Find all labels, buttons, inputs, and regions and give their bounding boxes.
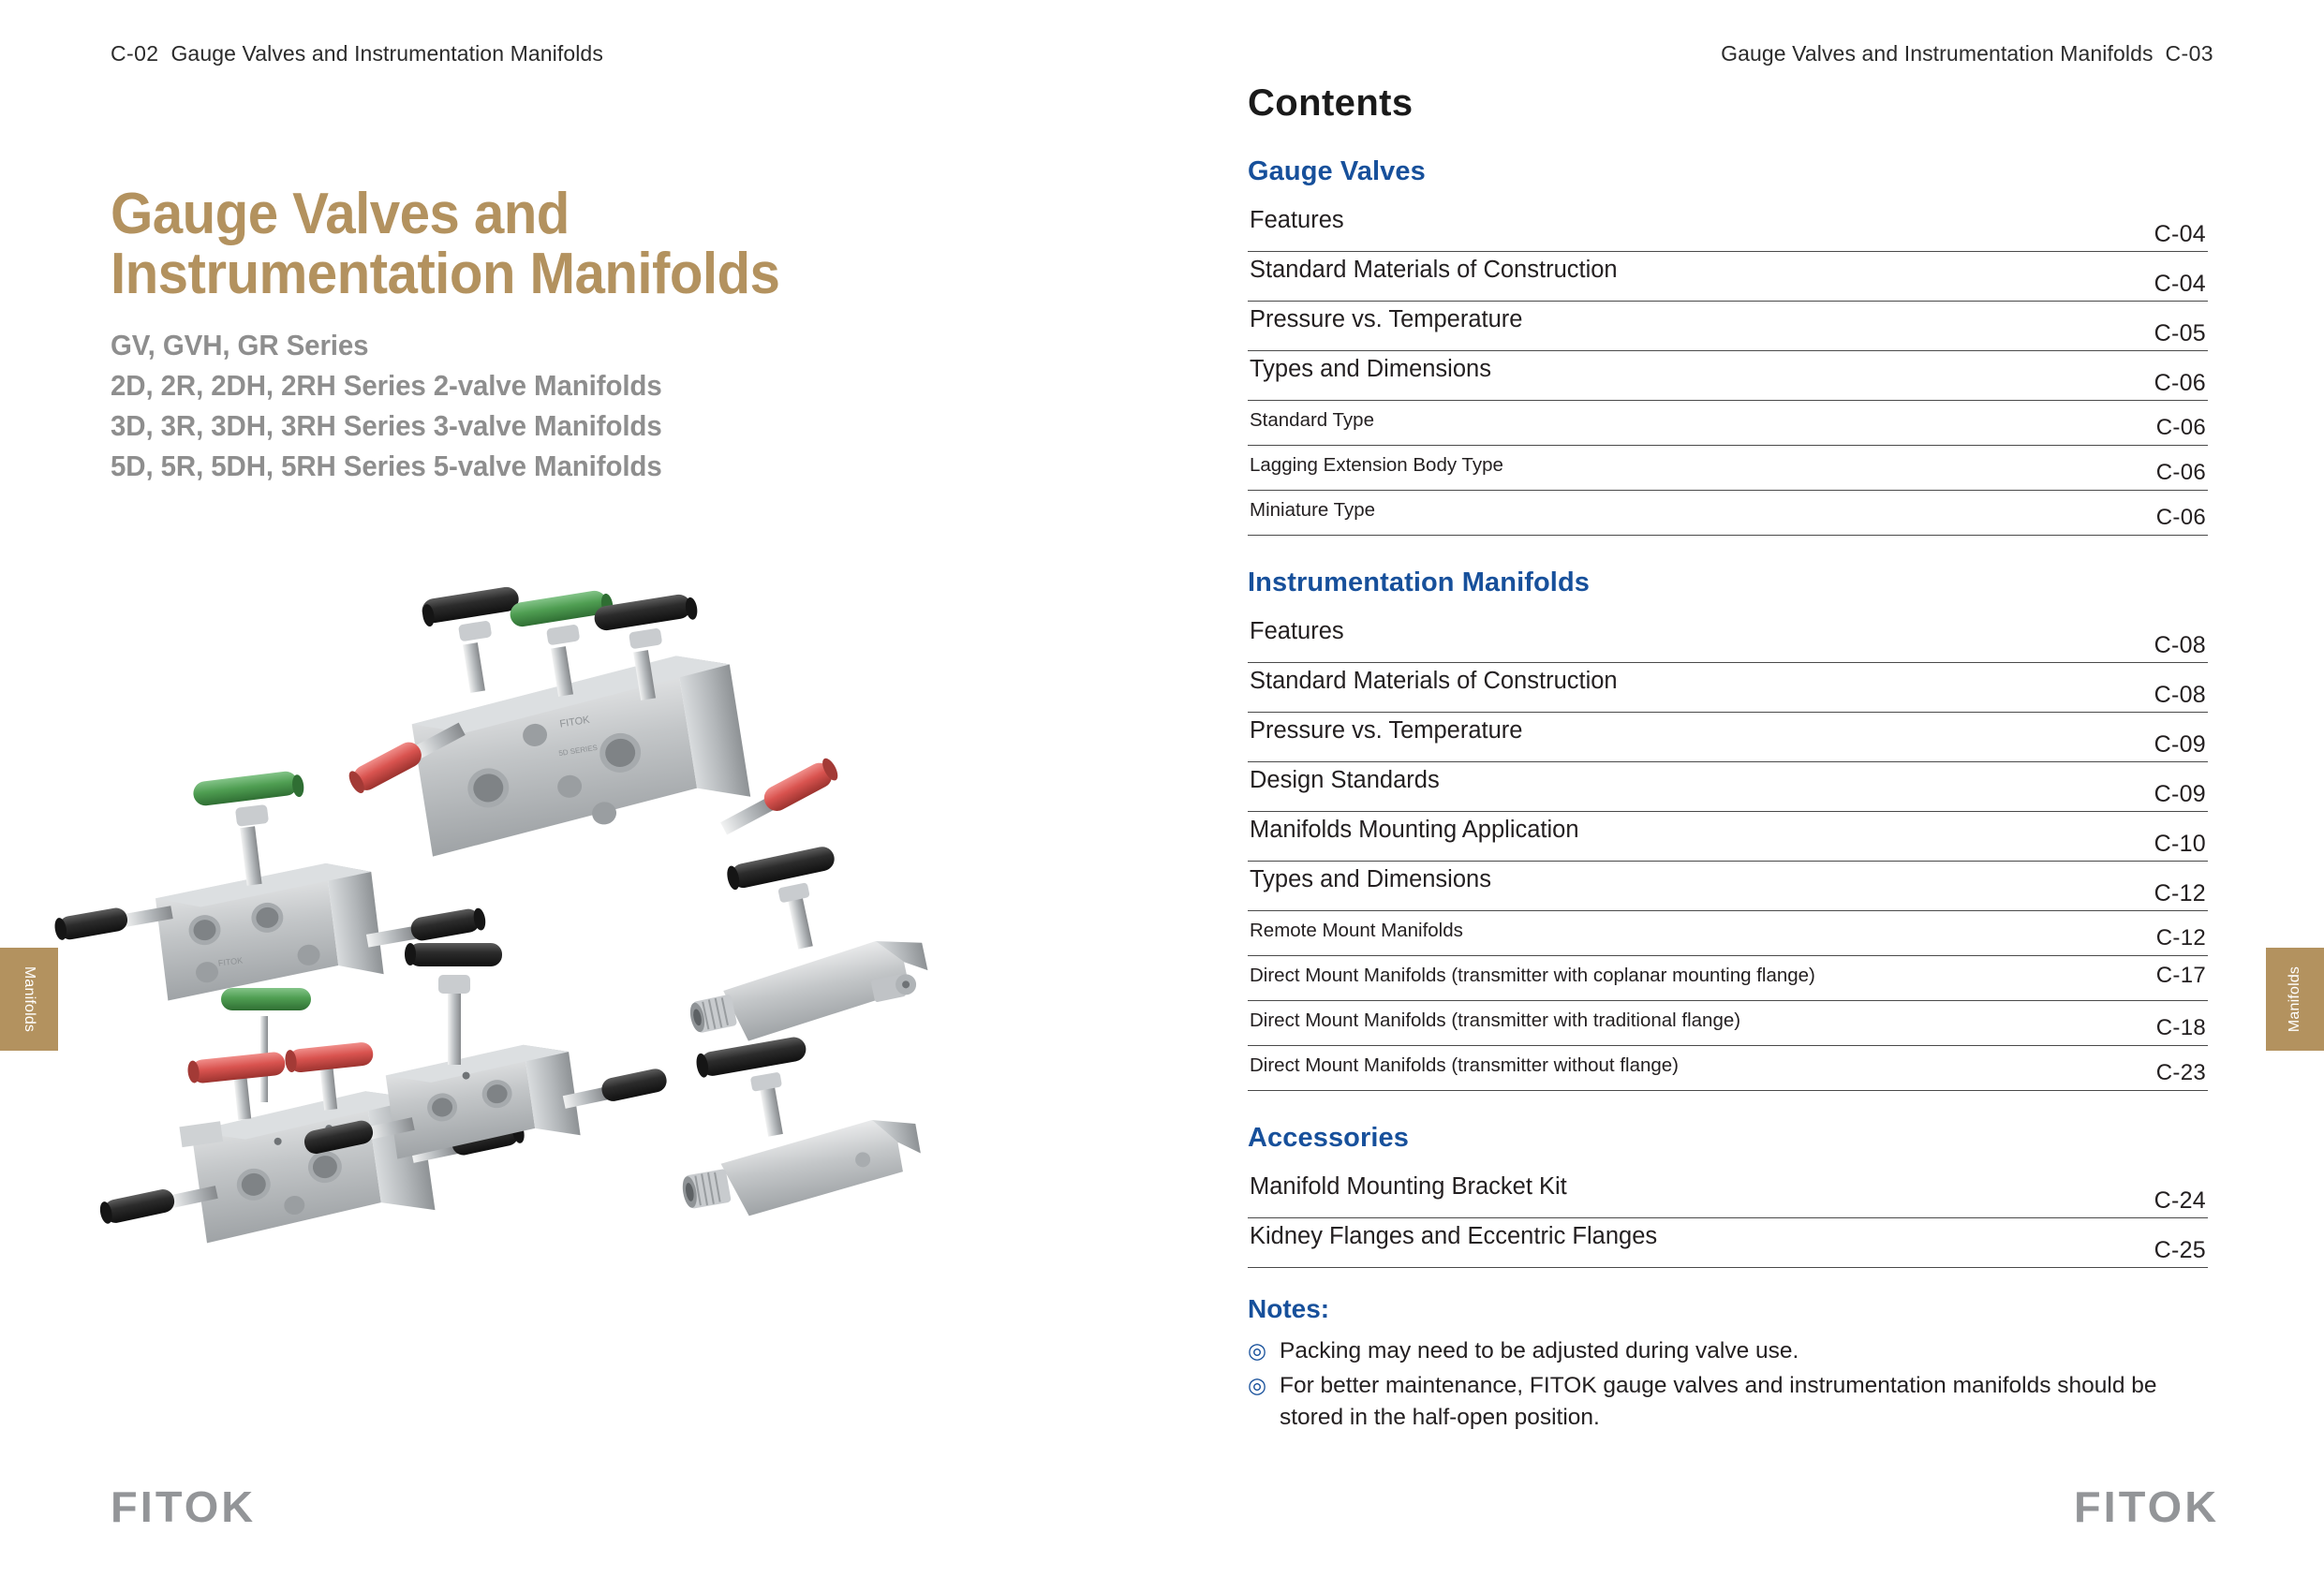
folio-right: C-03 <box>2166 41 2213 66</box>
product-photo-montage: FITOK 5D SERIES <box>103 585 1096 1400</box>
toc-entry[interactable]: Types and Dimensions C-06 <box>1248 351 2208 401</box>
series-item: 3D, 3R, 3DH, 3RH Series 3-valve Manifold… <box>111 405 1000 446</box>
toc-entry-label: Direct Mount Manifolds (transmitter with… <box>1250 1010 1740 1032</box>
toc-entry[interactable]: Features C-08 <box>1248 613 2208 663</box>
toc-entry-label: Direct Mount Manifolds (transmitter with… <box>1250 965 1815 987</box>
toc-entry-page: C-12 <box>2156 925 2206 951</box>
brand-logo-right: FITOK <box>2074 1481 2219 1532</box>
toc-entry-label: Manifold Mounting Bracket Kit <box>1250 1173 1567 1201</box>
toc-entry-label: Types and Dimensions <box>1250 356 1491 383</box>
toc-entry[interactable]: Direct Mount Manifolds (transmitter with… <box>1248 1046 2208 1091</box>
toc-entry-page: C-09 <box>2154 731 2206 759</box>
contents-panel: Contents Gauge Valves Features C-04 Stan… <box>1248 82 2208 1436</box>
toc-entry-label: Kidney Flanges and Eccentric Flanges <box>1250 1223 1657 1250</box>
thumb-tab-left-label: Manifolds <box>21 966 37 1032</box>
toc-entry[interactable]: Design Standards C-09 <box>1248 762 2208 812</box>
toc-entry-label: Manifolds Mounting Application <box>1250 817 1579 844</box>
toc-entry-label: Types and Dimensions <box>1250 866 1491 893</box>
brand-logo-left: FITOK <box>111 1481 256 1532</box>
toc-entry[interactable]: Pressure vs. Temperature C-05 <box>1248 302 2208 351</box>
toc-entry-page: C-05 <box>2154 320 2206 347</box>
toc-entry-page: C-06 <box>2156 415 2206 441</box>
toc-entry[interactable]: Kidney Flanges and Eccentric Flanges C-2… <box>1248 1218 2208 1268</box>
running-head-left-title: Gauge Valves and Instrumentation Manifol… <box>170 41 602 66</box>
toc-entry-label: Standard Type <box>1250 409 1374 432</box>
toc-entry[interactable]: Direct Mount Manifolds (transmitter with… <box>1248 956 2208 1001</box>
toc-entry[interactable]: Pressure vs. Temperature C-09 <box>1248 713 2208 762</box>
toc-entry-label: Pressure vs. Temperature <box>1250 306 1522 333</box>
toc-entry-label: Features <box>1250 618 1344 645</box>
toc-entry-label: Direct Mount Manifolds (transmitter with… <box>1250 1054 1679 1077</box>
running-head-right: Gauge Valves and Instrumentation Manifol… <box>1721 41 2213 66</box>
page-title: Gauge Valves and Instrumentation Manifol… <box>111 184 991 304</box>
contents-group-heading-accessories: Accessories <box>1248 1123 2208 1154</box>
contents-list-accessories: Manifold Mounting Bracket Kit C-24 Kidne… <box>1248 1169 2208 1268</box>
product-3-valve-manifold-center <box>328 922 628 1194</box>
note-bullet-icon: ◎ <box>1248 1336 1266 1366</box>
toc-entry-page: C-18 <box>2156 1015 2206 1041</box>
right-page: Gauge Valves and Instrumentation Manifol… <box>1162 0 2324 1577</box>
toc-entry-label: Features <box>1250 207 1344 234</box>
toc-entry-label: Standard Materials of Construction <box>1250 257 1618 284</box>
toc-entry[interactable]: Lagging Extension Body Type C-06 <box>1248 446 2208 491</box>
series-item: GV, GVH, GR Series <box>111 325 1000 365</box>
note-bullet-icon: ◎ <box>1248 1371 1266 1401</box>
toc-entry-page: C-06 <box>2156 460 2206 486</box>
toc-entry-page: C-06 <box>2156 505 2206 531</box>
toc-entry[interactable]: Manifold Mounting Bracket Kit C-24 <box>1248 1169 2208 1218</box>
note-item-text: For better maintenance, FITOK gauge valv… <box>1280 1373 2157 1430</box>
product-gauge-valve-upper <box>684 847 984 1054</box>
toc-entry-label: Remote Mount Manifolds <box>1250 920 1463 942</box>
toc-entry-label: Miniature Type <box>1250 499 1375 522</box>
note-item: ◎ For better maintenance, FITOK gauge va… <box>1248 1370 2208 1434</box>
running-head-left: C-02 Gauge Valves and Instrumentation Ma… <box>111 41 603 66</box>
toc-entry-page: C-10 <box>2154 831 2206 858</box>
thumb-tab-left[interactable]: Manifolds <box>0 948 58 1051</box>
toc-entry[interactable]: Manifolds Mounting Application C-10 <box>1248 812 2208 862</box>
toc-entry[interactable]: Types and Dimensions C-12 <box>1248 862 2208 911</box>
toc-entry-page: C-08 <box>2154 632 2206 659</box>
contents-list-gauge-valves: Features C-04 Standard Materials of Cons… <box>1248 202 2208 536</box>
toc-entry-label: Pressure vs. Temperature <box>1250 717 1522 744</box>
toc-entry-page: C-17 <box>2156 963 2206 989</box>
toc-entry-label: Standard Materials of Construction <box>1250 668 1618 695</box>
contents-list-instrumentation-manifolds: Features C-08 Standard Materials of Cons… <box>1248 613 2208 1091</box>
toc-entry[interactable]: Features C-04 <box>1248 202 2208 252</box>
toc-entry-page: C-12 <box>2154 880 2206 907</box>
toc-entry[interactable]: Miniature Type C-06 <box>1248 491 2208 536</box>
folio-left: C-02 <box>111 41 158 66</box>
series-list: GV, GVH, GR Series 2D, 2R, 2DH, 2RH Seri… <box>111 325 1000 486</box>
note-item-text: Packing may need to be adjusted during v… <box>1280 1338 1799 1363</box>
toc-entry-page: C-23 <box>2156 1060 2206 1086</box>
series-item: 2D, 2R, 2DH, 2RH Series 2-valve Manifold… <box>111 365 1000 405</box>
toc-entry[interactable]: Direct Mount Manifolds (transmitter with… <box>1248 1001 2208 1046</box>
toc-entry-page: C-08 <box>2154 682 2206 709</box>
left-page: C-02 Gauge Valves and Instrumentation Ma… <box>0 0 1162 1577</box>
series-item: 5D, 5R, 5DH, 5RH Series 5-valve Manifold… <box>111 446 1000 486</box>
toc-entry[interactable]: Standard Materials of Construction C-08 <box>1248 663 2208 713</box>
toc-entry[interactable]: Standard Type C-06 <box>1248 401 2208 446</box>
running-head-right-title: Gauge Valves and Instrumentation Manifol… <box>1721 41 2153 66</box>
toc-entry-label: Lagging Extension Body Type <box>1250 454 1503 477</box>
page-title-line-1: Gauge Valves and <box>111 184 991 244</box>
toc-entry-page: C-06 <box>2154 370 2206 397</box>
toc-entry-label: Design Standards <box>1250 767 1440 794</box>
toc-entry[interactable]: Remote Mount Manifolds C-12 <box>1248 911 2208 956</box>
thumb-tab-right[interactable]: Manifolds <box>2266 948 2324 1051</box>
toc-entry-page: C-09 <box>2154 781 2206 808</box>
cover-title-block: Gauge Valves and Instrumentation Manifol… <box>111 184 1047 486</box>
notes-heading: Notes: <box>1248 1294 2208 1324</box>
contents-group-heading-instrumentation-manifolds: Instrumentation Manifolds <box>1248 567 2208 598</box>
toc-entry-page: C-04 <box>2154 221 2206 248</box>
note-item: ◎ Packing may need to be adjusted during… <box>1248 1335 2208 1367</box>
page-title-line-2: Instrumentation Manifolds <box>111 244 991 304</box>
toc-entry-page: C-04 <box>2154 271 2206 298</box>
contents-heading: Contents <box>1248 82 2208 125</box>
toc-entry-page: C-24 <box>2154 1187 2206 1215</box>
toc-entry[interactable]: Standard Materials of Construction C-04 <box>1248 252 2208 302</box>
toc-entry-page: C-25 <box>2154 1237 2206 1264</box>
thumb-tab-right-label: Manifolds <box>2287 966 2303 1032</box>
contents-group-heading-gauge-valves: Gauge Valves <box>1248 156 2208 187</box>
product-gauge-valve-lower <box>665 1025 965 1231</box>
